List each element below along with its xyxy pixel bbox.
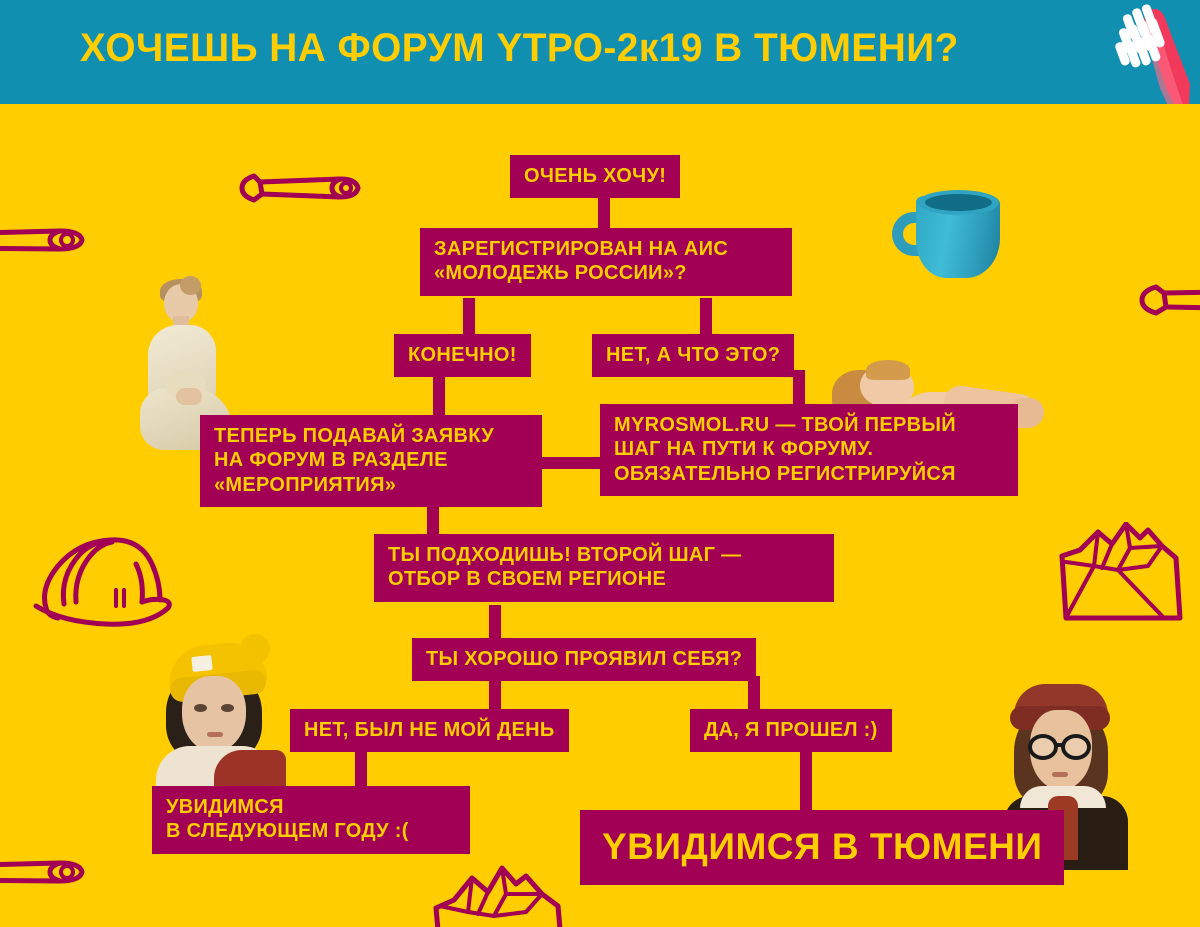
connector-myrosmol-to-apply [540, 457, 604, 469]
flow-node-start[interactable]: ОЧЕНЬ ХОЧУ! [510, 155, 680, 198]
flow-node-step2[interactable]: ТЫ ПОДХОДИШЬ! ВТОРОЙ ШАГ — ОТБОР В СВОЕМ… [374, 534, 834, 602]
connector-step2-to-q-perform [489, 605, 501, 639]
header-divider [0, 104, 1200, 111]
flow-node-next-year[interactable]: УВИДИМСЯ В СЛЕДУЮЩЕМ ГОДУ :( [152, 786, 470, 854]
flow-node-see-tyumen[interactable]: YВИДИМСЯ В ТЮМЕНИ [580, 810, 1064, 885]
connector-q-ais-to-no [700, 298, 712, 336]
hard-hat-icon [32, 524, 178, 638]
flow-node-myrosmol[interactable]: MYROSMOL.RU — ТВОЙ ПЕРВЫЙ ШАГ НА ПУТИ К … [600, 404, 1018, 496]
wrench-icon [0, 218, 100, 262]
header-banner: ХОЧЕШЬ НА ФОРУМ YТРО-2к19 В ТЮМЕНИ? [0, 0, 1200, 104]
flow-node-q-perform[interactable]: ТЫ ХОРОШО ПРОЯВИЛ СЕБЯ? [412, 638, 756, 681]
page-title: ХОЧЕШЬ НА ФОРУМ YТРО-2к19 В ТЮМЕНИ? [80, 26, 959, 71]
toothbrush-icon [1066, 0, 1196, 104]
connector-q-ais-to-yes [463, 298, 475, 336]
flow-node-yes-ais[interactable]: КОНЕЧНО! [394, 334, 531, 377]
wrench-icon [0, 850, 100, 894]
poster-canvas: ХОЧЕШЬ НА ФОРУМ YТРО-2к19 В ТЮМЕНИ? [0, 0, 1200, 927]
flow-node-q-ais[interactable]: ЗАРЕГИСТРИРОВАН НА АИС «МОЛОДЕЖЬ РОССИИ»… [420, 228, 792, 296]
mountain-icon [430, 862, 578, 927]
flow-node-yes-perform[interactable]: ДА, Я ПРОШЕЛ :) [690, 709, 892, 752]
wrench-icon [236, 166, 368, 210]
connector-no-to-myrosmol [793, 370, 805, 406]
wrench-icon [1128, 278, 1200, 322]
connector-yes-to-see-tyumen [800, 745, 812, 811]
flow-node-no-ais[interactable]: НЕТ, А ЧТО ЭТО? [592, 334, 794, 377]
flow-node-no-perform[interactable]: НЕТ, БЫЛ НЕ МОЙ ДЕНЬ [290, 709, 569, 752]
coffee-mug-photo [890, 188, 1018, 290]
flow-node-apply[interactable]: ТЕПЕРЬ ПОДАВАЙ ЗАЯВКУ НА ФОРУМ В РАЗДЕЛЕ… [200, 415, 542, 507]
mountain-icon [1058, 522, 1200, 640]
